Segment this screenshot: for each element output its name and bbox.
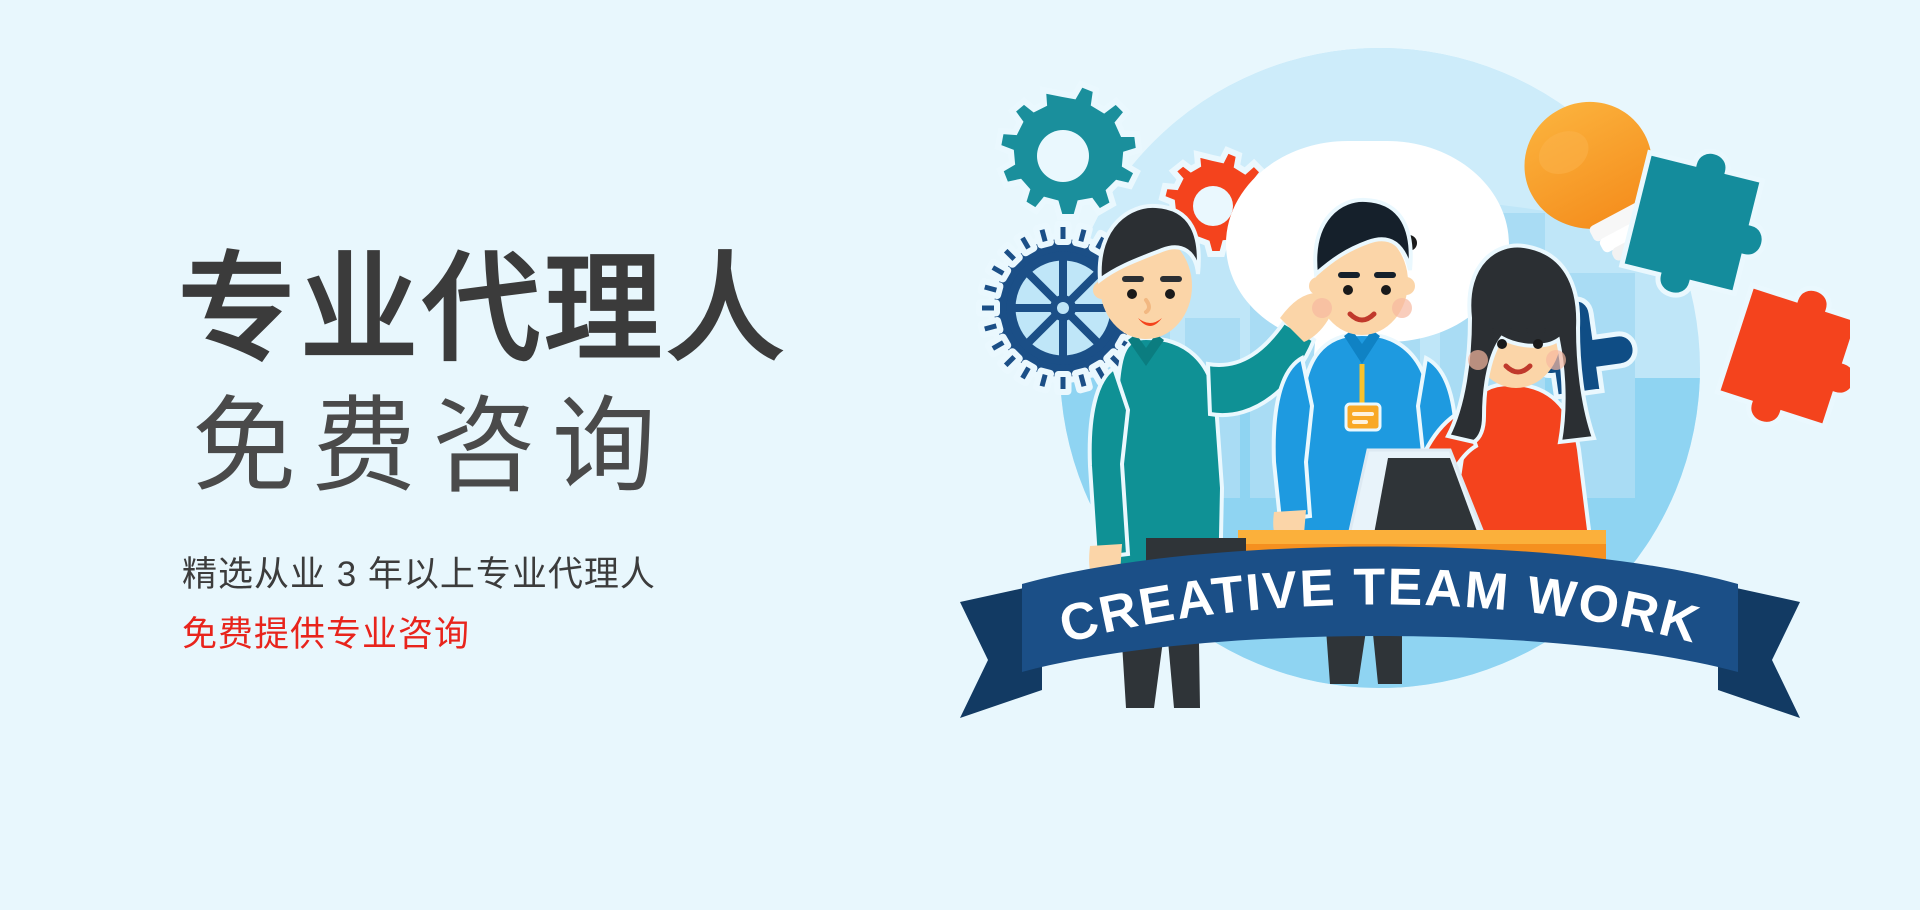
subtitle-line-2-highlight: 免费提供专业咨询 (182, 610, 898, 661)
subtitle-line-1: 精选从业 3 年以上专业代理人 (182, 550, 898, 601)
teamwork-illustration: CREATIVE TEAM WORK (950, 18, 1850, 898)
headline-text-block: 专业代理人 免费咨询 精选从业 3 年以上专业代理人 免费提供专业咨询 (178, 248, 898, 661)
headline-secondary: 免费咨询 (192, 389, 898, 505)
red-puzzle-icon (1712, 270, 1850, 448)
headline-primary: 专业代理人 (178, 248, 898, 373)
promo-banner: 专业代理人 免费咨询 精选从业 3 年以上专业代理人 免费提供专业咨询 (0, 0, 1920, 910)
ribbon-banner: CREATIVE TEAM WORK (960, 547, 1800, 719)
